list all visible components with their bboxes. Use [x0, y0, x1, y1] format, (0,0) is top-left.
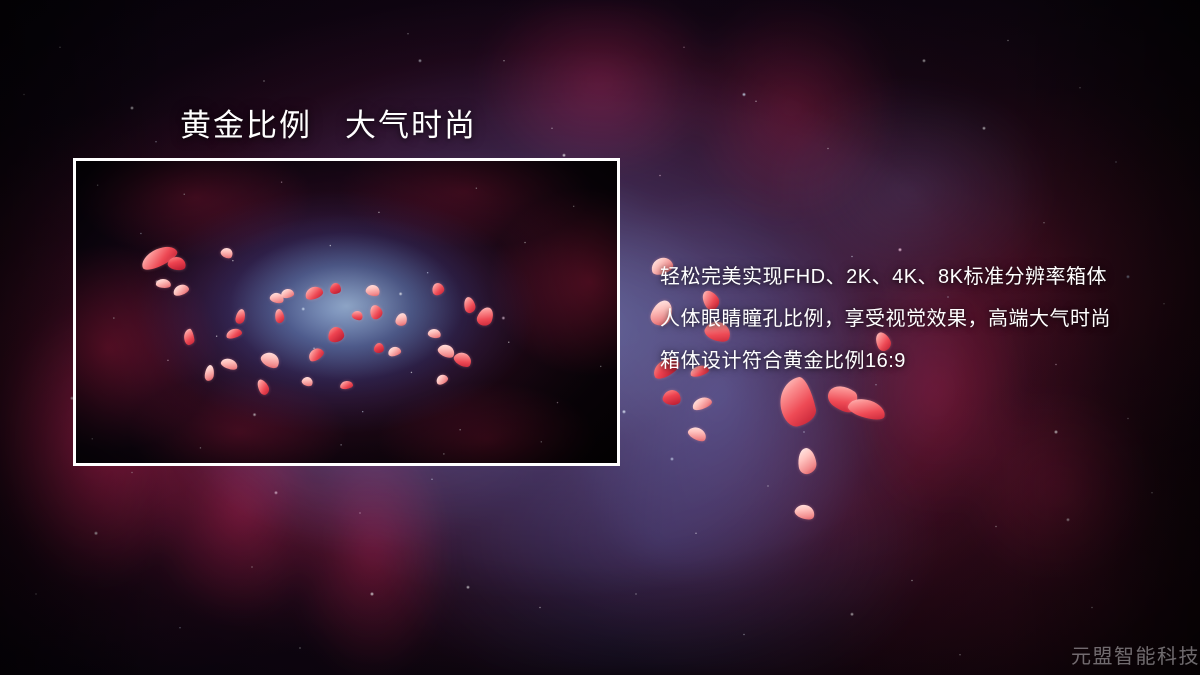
body-line: 箱体设计符合黄金比例16:9 — [660, 340, 1190, 382]
petal — [662, 388, 683, 406]
photo-vignette-layer — [76, 161, 617, 463]
petal — [793, 502, 817, 522]
page-title: 黄金比例 大气时尚 — [180, 100, 477, 145]
petal — [775, 375, 818, 429]
petal — [330, 283, 341, 294]
slide-canvas: 黄金比例 大气时尚 — [0, 0, 1200, 675]
petal — [691, 395, 713, 412]
body-line: 人体眼睛瞳孔比例，享受视觉效果，高端大气时尚 — [660, 298, 1190, 340]
body-line: 轻松完美实现FHD、2K、4K、8K标准分辨率箱体 — [660, 256, 1190, 298]
petal — [686, 424, 708, 444]
framed-photo — [73, 158, 620, 466]
framed-photo-image — [76, 161, 617, 463]
petal — [796, 447, 817, 475]
watermark: 元盟智能科技 — [1071, 640, 1200, 669]
body-text-block: 轻松完美实现FHD、2K、4K、8K标准分辨率箱体 人体眼睛瞳孔比例，享受视觉效… — [660, 256, 1190, 382]
